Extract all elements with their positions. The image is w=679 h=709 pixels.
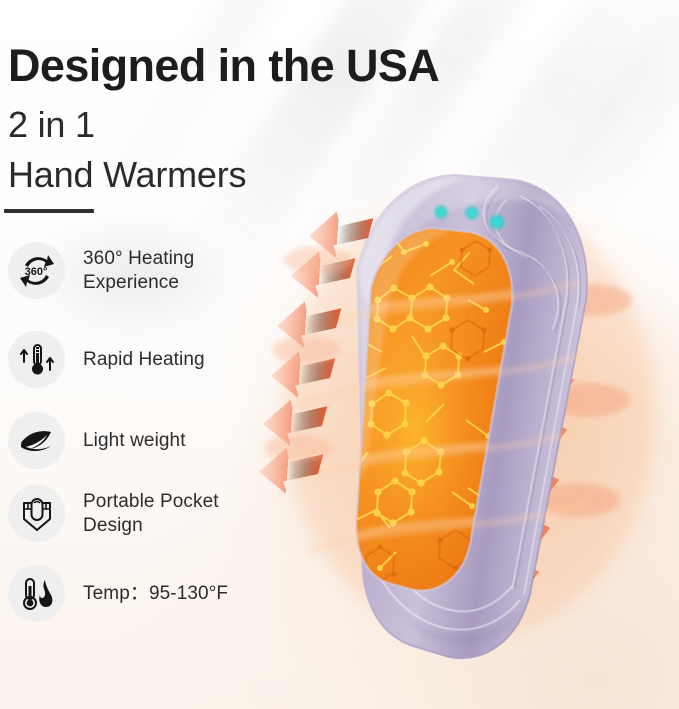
360-rotation-icon: 360° xyxy=(8,242,65,299)
feature-item-rapid-heating: Rapid Heating xyxy=(8,331,205,388)
feature-label: Light weight xyxy=(83,429,186,452)
subtitle-line-1: 2 in 1 xyxy=(8,104,95,146)
subtitle-line-2: Hand Warmers xyxy=(8,154,246,196)
feature-label: Rapid Heating xyxy=(83,348,205,371)
pocket-icon xyxy=(8,485,65,542)
feature-item-360-heating: 360° 360° Heating Experience xyxy=(8,242,194,299)
feature-item-light-weight: Light weight xyxy=(8,412,186,469)
title-divider xyxy=(4,209,94,213)
feature-label: Temp：95-130°F xyxy=(83,582,228,605)
thermometer-flame-icon xyxy=(8,565,65,622)
thermometer-up-arrows-icon xyxy=(8,331,65,388)
feature-item-temperature: Temp：95-130°F xyxy=(8,565,228,622)
product-feature-graphic: Designed in the USA 2 in 1 Hand Warmers … xyxy=(0,0,679,709)
heat-ambient-glow xyxy=(250,180,679,620)
feature-label: Portable Pocket Design xyxy=(83,490,219,536)
page-title: Designed in the USA xyxy=(8,40,439,92)
360-icon-value: 360° xyxy=(24,266,47,278)
feather-icon xyxy=(8,412,65,469)
feature-item-portable-pocket: Portable Pocket Design xyxy=(8,485,219,542)
feature-label: 360° Heating Experience xyxy=(83,247,194,293)
